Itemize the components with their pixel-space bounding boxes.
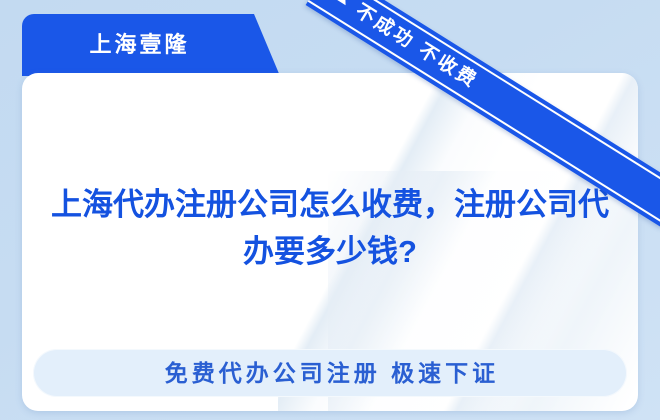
brand-tab: 上海壹隆 — [22, 14, 280, 76]
cta-pill[interactable]: 免费代办公司注册 极速下证 — [33, 349, 627, 397]
cta-pill-label: 免费代办公司注册 极速下证 — [33, 349, 627, 397]
promo-poster: 上海壹隆 不成功 不收费 上海代办注册公司怎么收费，注册公司代办要多少钱? 免费… — [0, 0, 660, 420]
content-card: 上海代办注册公司怎么收费，注册公司代办要多少钱? 免费代办公司注册 极速下证 — [22, 73, 638, 411]
brand-tab-label: 上海壹隆 — [22, 27, 254, 59]
triangle-up-icon — [335, 0, 350, 5]
headline-text: 上海代办注册公司怎么收费，注册公司代办要多少钱? — [46, 181, 614, 275]
